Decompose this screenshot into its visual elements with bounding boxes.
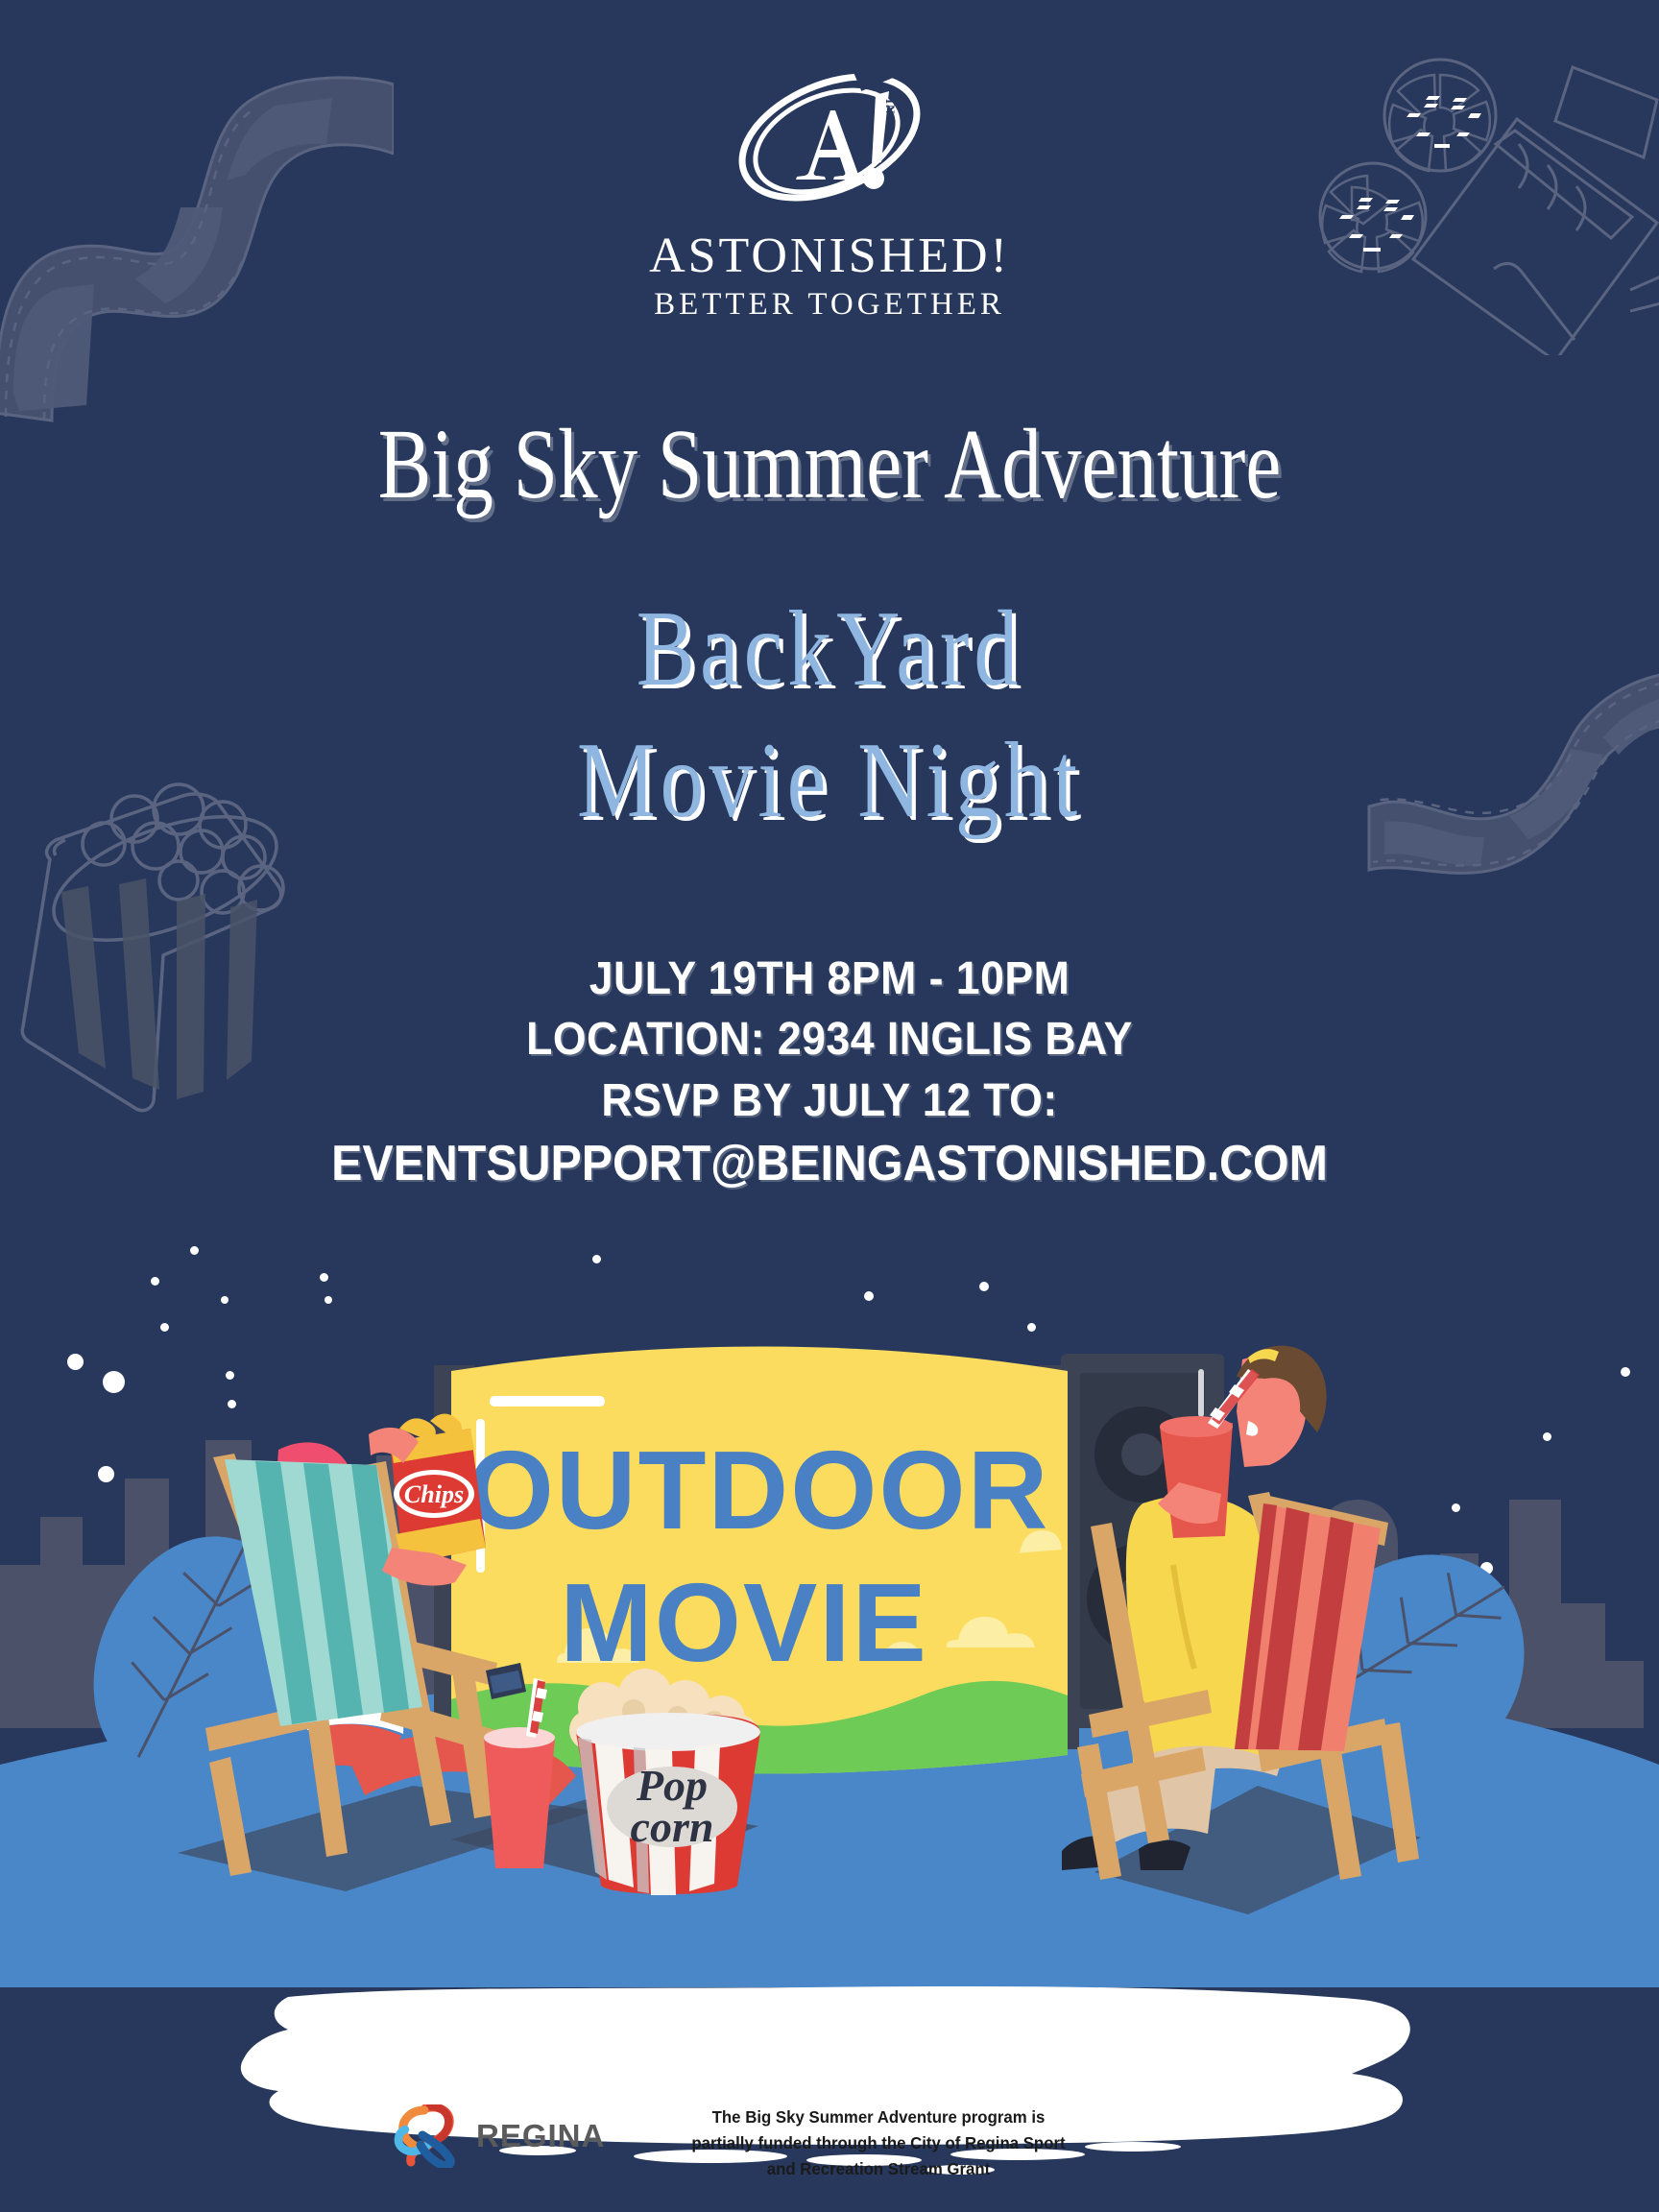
- brand-name: ASTONISHED!: [0, 231, 1659, 281]
- popcorn-label-line-2: corn: [631, 1802, 714, 1851]
- star: [190, 1246, 199, 1255]
- poster-root: INC. ASTONISHED! BETTER TOGETHER Big Sky…: [0, 0, 1659, 2212]
- regina-wordmark: REGINA: [476, 2118, 605, 2154]
- brand-tagline: BETTER TOGETHER: [0, 289, 1659, 321]
- chips-label: Chips: [404, 1480, 464, 1508]
- screen-text-line-2: MOVIE: [560, 1560, 928, 1685]
- event-rsvp-deadline: RSVP BY JULY 12 TO:: [58, 1070, 1600, 1131]
- event-location: LOCATION: 2934 INGLIS BAY: [58, 1009, 1600, 1070]
- footer-content: REGINA The Big Sky Summer Adventure prog…: [374, 2091, 1296, 2197]
- center-snacks: Pop corn: [451, 1663, 760, 1895]
- outdoor-movie-scene-illustration: OUTDOOR MOVIE: [0, 1277, 1659, 1987]
- brand-logo-block: INC. ASTONISHED! BETTER TOGETHER: [0, 53, 1659, 321]
- astonished-a-exclamation-logo-icon: INC.: [727, 53, 933, 221]
- program-title: Big Sky Summer Adventure: [166, 415, 1493, 515]
- star: [592, 1255, 601, 1263]
- event-title-line-1: BackYard: [150, 584, 1510, 715]
- event-title-line-2: Movie Night: [150, 715, 1510, 847]
- popcorn-bucket: Pop corn: [569, 1669, 760, 1895]
- svg-text:INC.: INC.: [883, 99, 898, 129]
- grant-acknowledgement-text: The Big Sky Summer Adventure program is …: [681, 2104, 1077, 2182]
- regina-sponsor-logo: REGINA: [394, 2104, 605, 2168]
- regina-r-loop-logo-icon: [394, 2104, 465, 2168]
- event-datetime: JULY 19TH 8PM - 10PM: [58, 949, 1600, 1009]
- screen-text-line-1: OUTDOOR: [468, 1428, 1050, 1552]
- event-title: BackYard Movie Night: [150, 584, 1510, 846]
- event-rsvp-email[interactable]: EVENTSUPPORT@BEINGASTONISHED.COM: [58, 1131, 1600, 1197]
- event-details: JULY 19TH 8PM - 10PM LOCATION: 2934 INGL…: [0, 949, 1659, 1197]
